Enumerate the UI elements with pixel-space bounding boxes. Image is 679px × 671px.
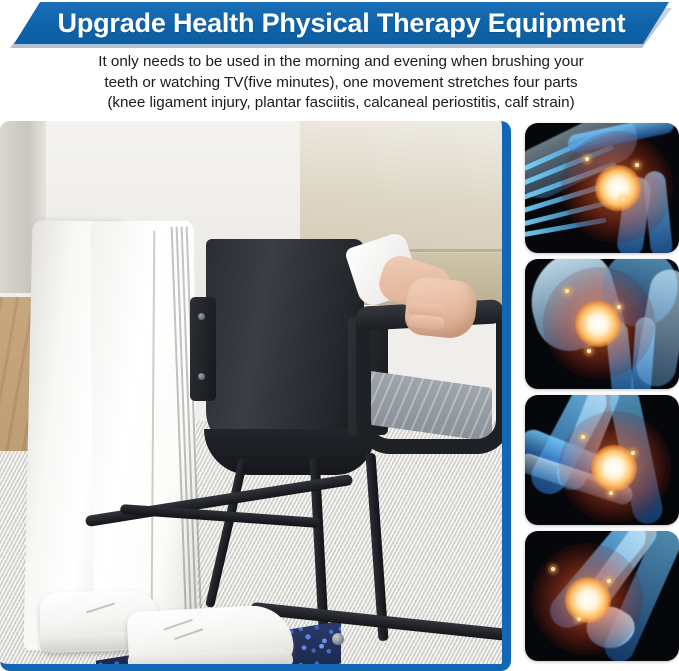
xray-panel-2 [525, 259, 679, 389]
xray-panel-4 [525, 531, 679, 661]
shoelace [164, 619, 193, 631]
front-trouser-leg [90, 220, 198, 641]
xray-panel-1 [525, 123, 679, 253]
xray-knee-joint-pain [525, 259, 679, 389]
pain-glow-core [595, 165, 641, 211]
spark [607, 579, 611, 583]
spark [587, 349, 591, 353]
shoelace [86, 602, 115, 613]
xray-knee-ligament-pain [525, 395, 679, 525]
spark [581, 435, 585, 439]
main-product-photo [0, 121, 511, 671]
banner-ribbon: Upgrade Health Physical Therapy Equipmen… [14, 2, 669, 44]
chair-backrest-base [204, 429, 374, 475]
rail-screw-icon [332, 633, 344, 645]
spark [565, 289, 569, 293]
spark [585, 157, 589, 161]
subtitle-line-2: teeth or watching TV(five minutes), one … [26, 73, 656, 94]
xray-panel-3 [525, 395, 679, 525]
product-marketing-image: Upgrade Health Physical Therapy Equipmen… [0, 0, 679, 671]
xray-panel-column [525, 123, 679, 671]
page-title: Upgrade Health Physical Therapy Equipmen… [58, 8, 626, 39]
chair-leg [205, 458, 248, 608]
spark [551, 567, 555, 571]
chair-backrest [206, 239, 364, 451]
header-banner: Upgrade Health Physical Therapy Equipmen… [0, 0, 679, 52]
spark [621, 197, 625, 201]
subtitle-line-1: It only needs to be used in the morning … [26, 52, 656, 73]
spark [609, 491, 613, 495]
spark [577, 617, 581, 621]
hand-gripping-armrest [403, 276, 479, 341]
chair-arm-frame [356, 319, 511, 454]
spark [631, 451, 635, 455]
chair-leg [365, 453, 388, 641]
shoelace [174, 628, 203, 640]
subtitle-block: It only needs to be used in the morning … [26, 52, 656, 114]
screw-icon [198, 373, 205, 380]
xray-hip-shoulder-pain [525, 123, 679, 253]
spark [635, 163, 639, 167]
finger [408, 314, 445, 331]
chair-arm-bracket-left [190, 297, 216, 401]
trouser-crease [151, 231, 156, 621]
pain-glow-core [565, 577, 611, 623]
subtitle-line-3: (knee ligament injury, plantar fasciitis… [26, 93, 656, 114]
spark [617, 305, 621, 309]
screw-icon [198, 313, 205, 320]
pain-glow-core [575, 301, 621, 347]
xray-ankle-heel-pain [525, 531, 679, 661]
